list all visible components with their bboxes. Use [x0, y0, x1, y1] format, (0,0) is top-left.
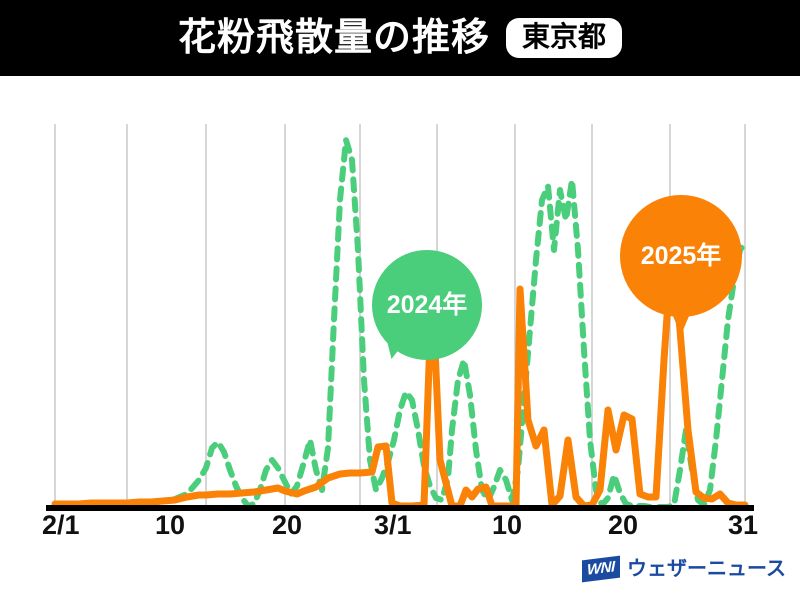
weathernews-logo: WNI ウェザーニュース: [582, 558, 786, 580]
x-tick-label-6: 31: [728, 512, 758, 539]
callout-2025-tail: [670, 309, 692, 335]
x-tick-label-0: 2/1: [42, 512, 80, 539]
callout-2025: 2025年: [620, 195, 742, 317]
chart-container: 2/1 10 20 3/1 10 20 31 2024年 2025年: [0, 76, 800, 544]
x-tick-label-3: 3/1: [374, 512, 412, 539]
header-content: 花粉飛散量の推移 東京都: [0, 0, 800, 76]
x-tick-label-1: 10: [155, 512, 185, 539]
x-tick-label-2: 20: [272, 512, 302, 539]
logo-text: ウェザーニュース: [627, 559, 786, 579]
footer-bar: WNI ウェザーニュース: [0, 544, 800, 600]
x-tick-label-5: 20: [608, 512, 638, 539]
header-bar: 花粉飛散量の推移 東京都: [0, 0, 800, 76]
wni-logo-icon: WNI: [582, 556, 620, 583]
callout-2024: 2024年: [372, 250, 482, 360]
x-tick-label-4: 10: [492, 512, 522, 539]
page-title: 花粉飛散量の推移: [178, 19, 490, 57]
region-badge: 東京都: [506, 18, 622, 58]
callout-2025-label: 2025年: [641, 244, 722, 269]
callout-2024-label: 2024年: [387, 293, 468, 318]
